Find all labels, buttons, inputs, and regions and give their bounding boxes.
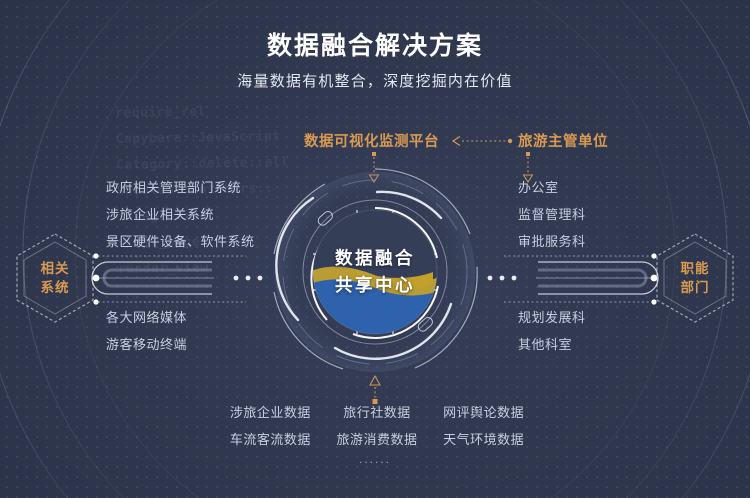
list-item[interactable]: 各大网络媒体 <box>106 304 187 331</box>
right-bottom-department-list: 规划发展科 其他科室 <box>518 304 586 358</box>
list-item[interactable]: 监督管理科 <box>518 201 586 228</box>
capsule-left <box>92 253 262 304</box>
hex-right-line2: 部门 <box>681 278 710 297</box>
grid-item[interactable]: 旅行社数据 <box>329 402 426 421</box>
left-bottom-source-list: 各大网络媒体 游客移动终端 <box>106 304 187 358</box>
grid-item[interactable]: 涉旅企业数据 <box>222 402 319 421</box>
right-top-department-list: 办公室 监督管理科 审批服务科 <box>518 174 586 255</box>
capsule-right <box>488 253 658 304</box>
hexagon-functional-departments[interactable]: 职能 部门 <box>652 231 738 325</box>
infographic-stage: require_rel Capybara::JavaScript Categor… <box>0 0 750 498</box>
hex-left-line1: 相关 <box>41 259 70 278</box>
list-item[interactable]: 办公室 <box>518 174 586 201</box>
list-item[interactable]: 审批服务科 <box>518 228 586 255</box>
data-fusion-core[interactable]: 数据融合 共享中心 <box>265 162 485 382</box>
list-item[interactable]: 规划发展科 <box>518 304 586 331</box>
hexagon-right-label: 职能 部门 <box>652 231 738 325</box>
grid-item[interactable]: 网评舆论数据 <box>435 402 532 421</box>
core-line1: 数据融合 <box>335 245 415 272</box>
list-item[interactable]: 其他科室 <box>518 331 586 358</box>
dotted-arrow-left-icon <box>450 133 514 149</box>
page-subtitle: 海量数据有机整合，深度挖掘内在价值 <box>0 70 750 91</box>
label-tourism-authority[interactable]: 旅游主管单位 <box>518 130 608 151</box>
grid-item[interactable]: 旅游消费数据 <box>329 429 426 448</box>
hexagon-related-systems[interactable]: 相关 系统 <box>12 231 98 325</box>
list-item[interactable]: 游客移动终端 <box>106 331 187 358</box>
core-line2: 共享中心 <box>335 272 415 299</box>
hexagon-left-label: 相关 系统 <box>12 231 98 325</box>
list-item[interactable]: 景区硬件设备、软件系统 <box>106 228 255 255</box>
page-title: 数据融合解决方案 <box>0 26 750 62</box>
left-top-source-list: 政府相关管理部门系统 涉旅企业相关系统 景区硬件设备、软件系统 <box>106 174 255 255</box>
core-label: 数据融合 共享中心 <box>265 162 485 382</box>
label-visualization-platform[interactable]: 数据可视化监测平台 <box>304 130 439 151</box>
list-item[interactable]: 政府相关管理部门系统 <box>106 174 255 201</box>
hex-left-line2: 系统 <box>41 278 70 297</box>
grid-item[interactable]: 车流客流数据 <box>222 429 319 448</box>
grid-item[interactable]: 天气环境数据 <box>435 429 532 448</box>
list-item[interactable]: 涉旅企业相关系统 <box>106 201 255 228</box>
bottom-data-grid: 涉旅企业数据 旅行社数据 网评舆论数据 车流客流数据 旅游消费数据 天气环境数据 <box>222 402 532 448</box>
hex-right-line1: 职能 <box>681 259 710 278</box>
bottom-ellipsis: ...... <box>0 452 750 466</box>
